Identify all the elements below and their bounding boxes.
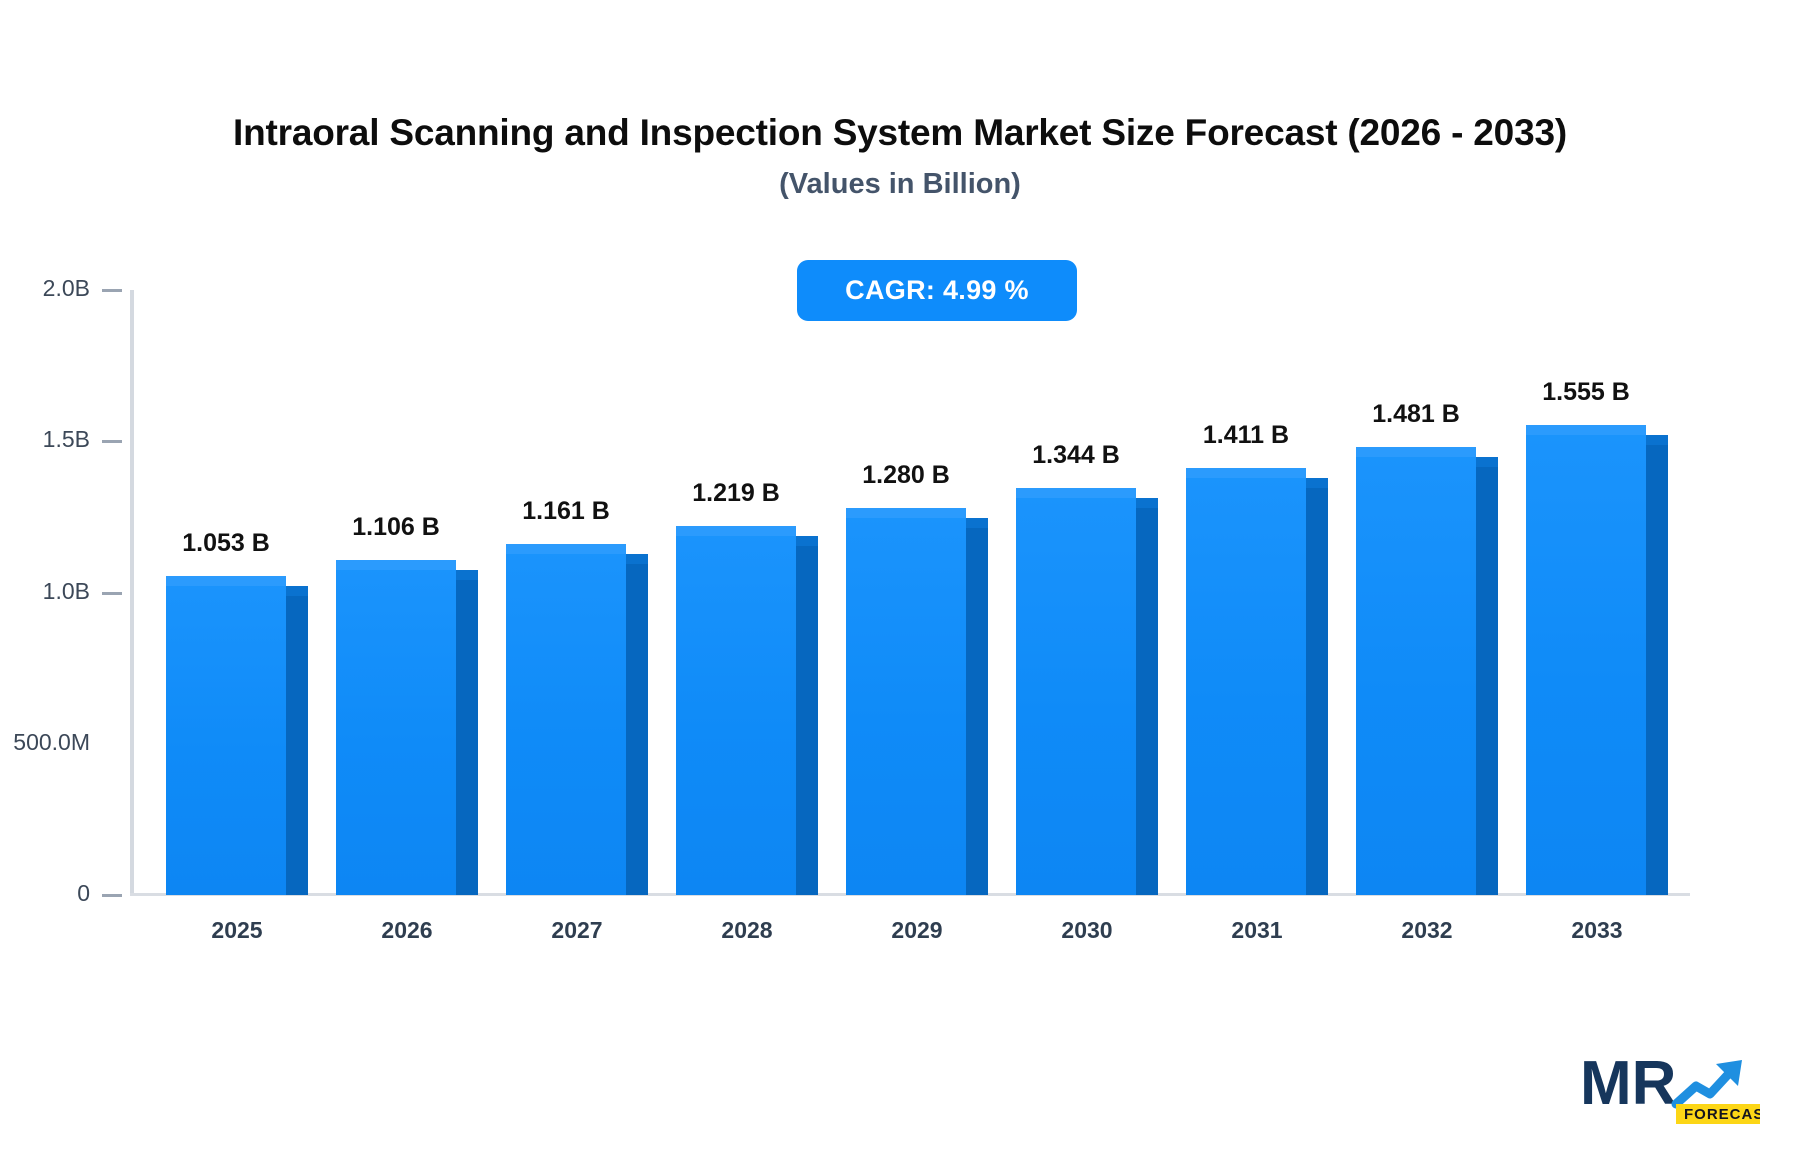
bar-side-face [796, 536, 818, 895]
y-axis-tick-label: 0 [77, 880, 90, 907]
bar-side-face [1646, 435, 1668, 895]
brand-logo: MR FORECAST [1580, 1042, 1760, 1128]
x-axis-tick-label: 2031 [1172, 917, 1342, 944]
bar-top-side-face [1306, 478, 1328, 488]
bar[interactable]: 1.280 B [846, 508, 966, 895]
x-axis-tick-label: 2026 [322, 917, 492, 944]
page-title: Intraoral Scanning and Inspection System… [0, 112, 1800, 154]
bar[interactable]: 1.481 B [1356, 447, 1476, 895]
bar-front-face [1186, 468, 1306, 895]
x-axis-tick-label: 2033 [1512, 917, 1682, 944]
bar-front-face [846, 508, 966, 895]
bar[interactable]: 1.411 B [1186, 468, 1306, 895]
bar-value-label: 1.481 B [1372, 400, 1460, 429]
bar-top-side-face [286, 586, 308, 596]
x-axis-tick-label: 2025 [152, 917, 322, 944]
bar-side-face [1136, 498, 1158, 895]
bar-side-face [286, 586, 308, 895]
bar-top-face [1016, 488, 1136, 498]
bar[interactable]: 1.555 B [1526, 425, 1646, 895]
y-axis-tick-label: 1.0B [43, 578, 90, 605]
bar-side-face [966, 518, 988, 895]
bar-top-side-face [1136, 498, 1158, 508]
x-axis-tick-label: 2032 [1342, 917, 1512, 944]
x-axis-tick-label: 2029 [832, 917, 1002, 944]
y-axis-tick-label: 2.0B [43, 275, 90, 302]
bar[interactable]: 1.344 B [1016, 488, 1136, 895]
plot-area: 1.053 B1.106 B1.161 B1.219 B1.280 B1.344… [130, 290, 1690, 895]
bar-side-face [456, 570, 478, 895]
bar-value-label: 1.280 B [862, 461, 950, 490]
bar-front-face [166, 576, 286, 895]
bar-top-face [166, 576, 286, 586]
bar-top-side-face [1646, 435, 1668, 445]
chart-canvas: Intraoral Scanning and Inspection System… [0, 0, 1800, 1156]
y-axis-tick-mark [102, 440, 122, 443]
bar[interactable]: 1.053 B [166, 576, 286, 895]
svg-text:FORECAST: FORECAST [1684, 1106, 1760, 1123]
bar-value-label: 1.219 B [692, 479, 780, 508]
bar-value-label: 1.344 B [1032, 441, 1120, 470]
bar-value-label: 1.161 B [522, 497, 610, 526]
bar-front-face [676, 526, 796, 895]
bar-top-face [506, 544, 626, 554]
chart-subtitle: (Values in Billion) [0, 168, 1800, 201]
bar-top-face [846, 508, 966, 518]
bar-top-face [1356, 447, 1476, 457]
y-axis-tick-label: 500.0M [13, 729, 90, 756]
bar-top-side-face [1476, 457, 1498, 467]
bar-front-face [336, 560, 456, 895]
bar-side-face [1476, 457, 1498, 895]
y-axis-tick-mark [102, 289, 122, 292]
bar-top-side-face [796, 536, 818, 546]
bar-top-face [1186, 468, 1306, 478]
bar-value-label: 1.053 B [182, 529, 270, 558]
x-axis-tick-label: 2028 [662, 917, 832, 944]
bar-top-face [336, 560, 456, 570]
x-axis-tick-label: 2027 [492, 917, 662, 944]
bar-top-side-face [966, 518, 988, 528]
bar[interactable]: 1.106 B [336, 560, 456, 895]
bar[interactable]: 1.161 B [506, 544, 626, 895]
svg-text:MR: MR [1580, 1049, 1676, 1118]
bar-side-face [626, 554, 648, 895]
bar-front-face [1016, 488, 1136, 895]
bar-value-label: 1.555 B [1542, 378, 1630, 407]
bar-front-face [1526, 425, 1646, 895]
bar-top-face [1526, 425, 1646, 435]
bar-front-face [1356, 447, 1476, 895]
mr-forecast-logo-icon: MR FORECAST [1580, 1042, 1760, 1128]
bar-side-face [1306, 478, 1328, 895]
bar-value-label: 1.411 B [1203, 421, 1289, 450]
y-axis-tick-mark [102, 592, 122, 595]
y-axis-tick-label: 1.5B [43, 426, 90, 453]
bar-front-face [506, 544, 626, 895]
bar-top-side-face [456, 570, 478, 580]
bar-top-face [676, 526, 796, 536]
y-axis-line [130, 290, 134, 895]
bar-top-side-face [626, 554, 648, 564]
bar-value-label: 1.106 B [352, 513, 440, 542]
x-axis-tick-label: 2030 [1002, 917, 1172, 944]
bar[interactable]: 1.219 B [676, 526, 796, 895]
y-axis-tick-mark [102, 894, 122, 897]
